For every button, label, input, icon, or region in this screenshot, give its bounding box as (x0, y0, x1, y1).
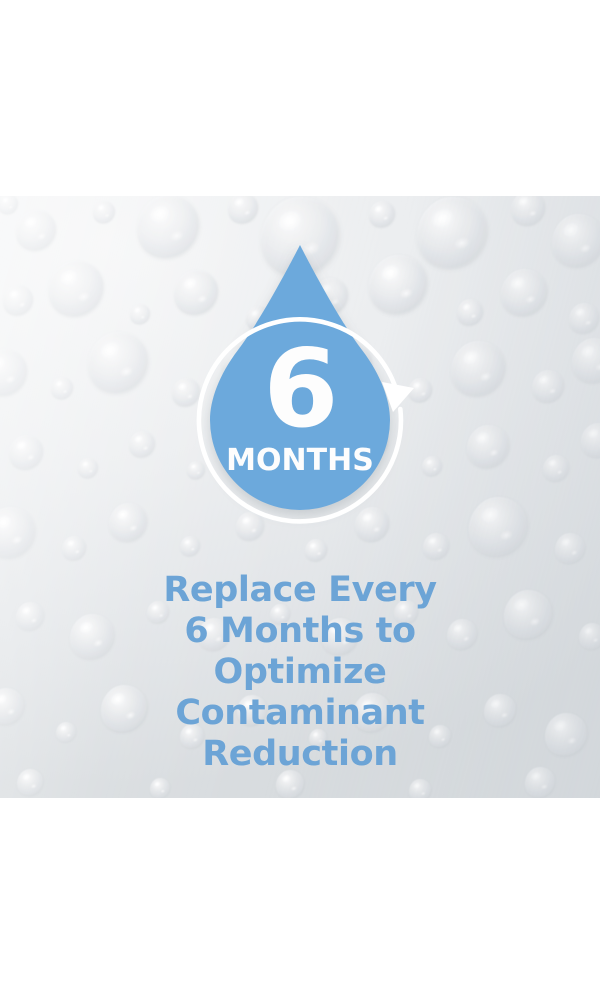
badge-number: 6 (150, 336, 450, 444)
headline-line-2: 6 Months to (0, 611, 600, 652)
headline-line-1: Replace Every (0, 570, 600, 611)
six-month-replacement-badge: 6 MONTHS (150, 232, 450, 562)
headline-line-3: Optimize (0, 652, 600, 693)
headline-block: Replace Every 6 Months to Optimize Conta… (0, 570, 600, 775)
badge-period-label: MONTHS (150, 446, 450, 476)
infographic-canvas: 6 MONTHS Replace Every 6 Months to Optim… (0, 0, 600, 1000)
headline-line-5: Reduction (0, 734, 600, 775)
headline-line-4: Contaminant (0, 693, 600, 734)
